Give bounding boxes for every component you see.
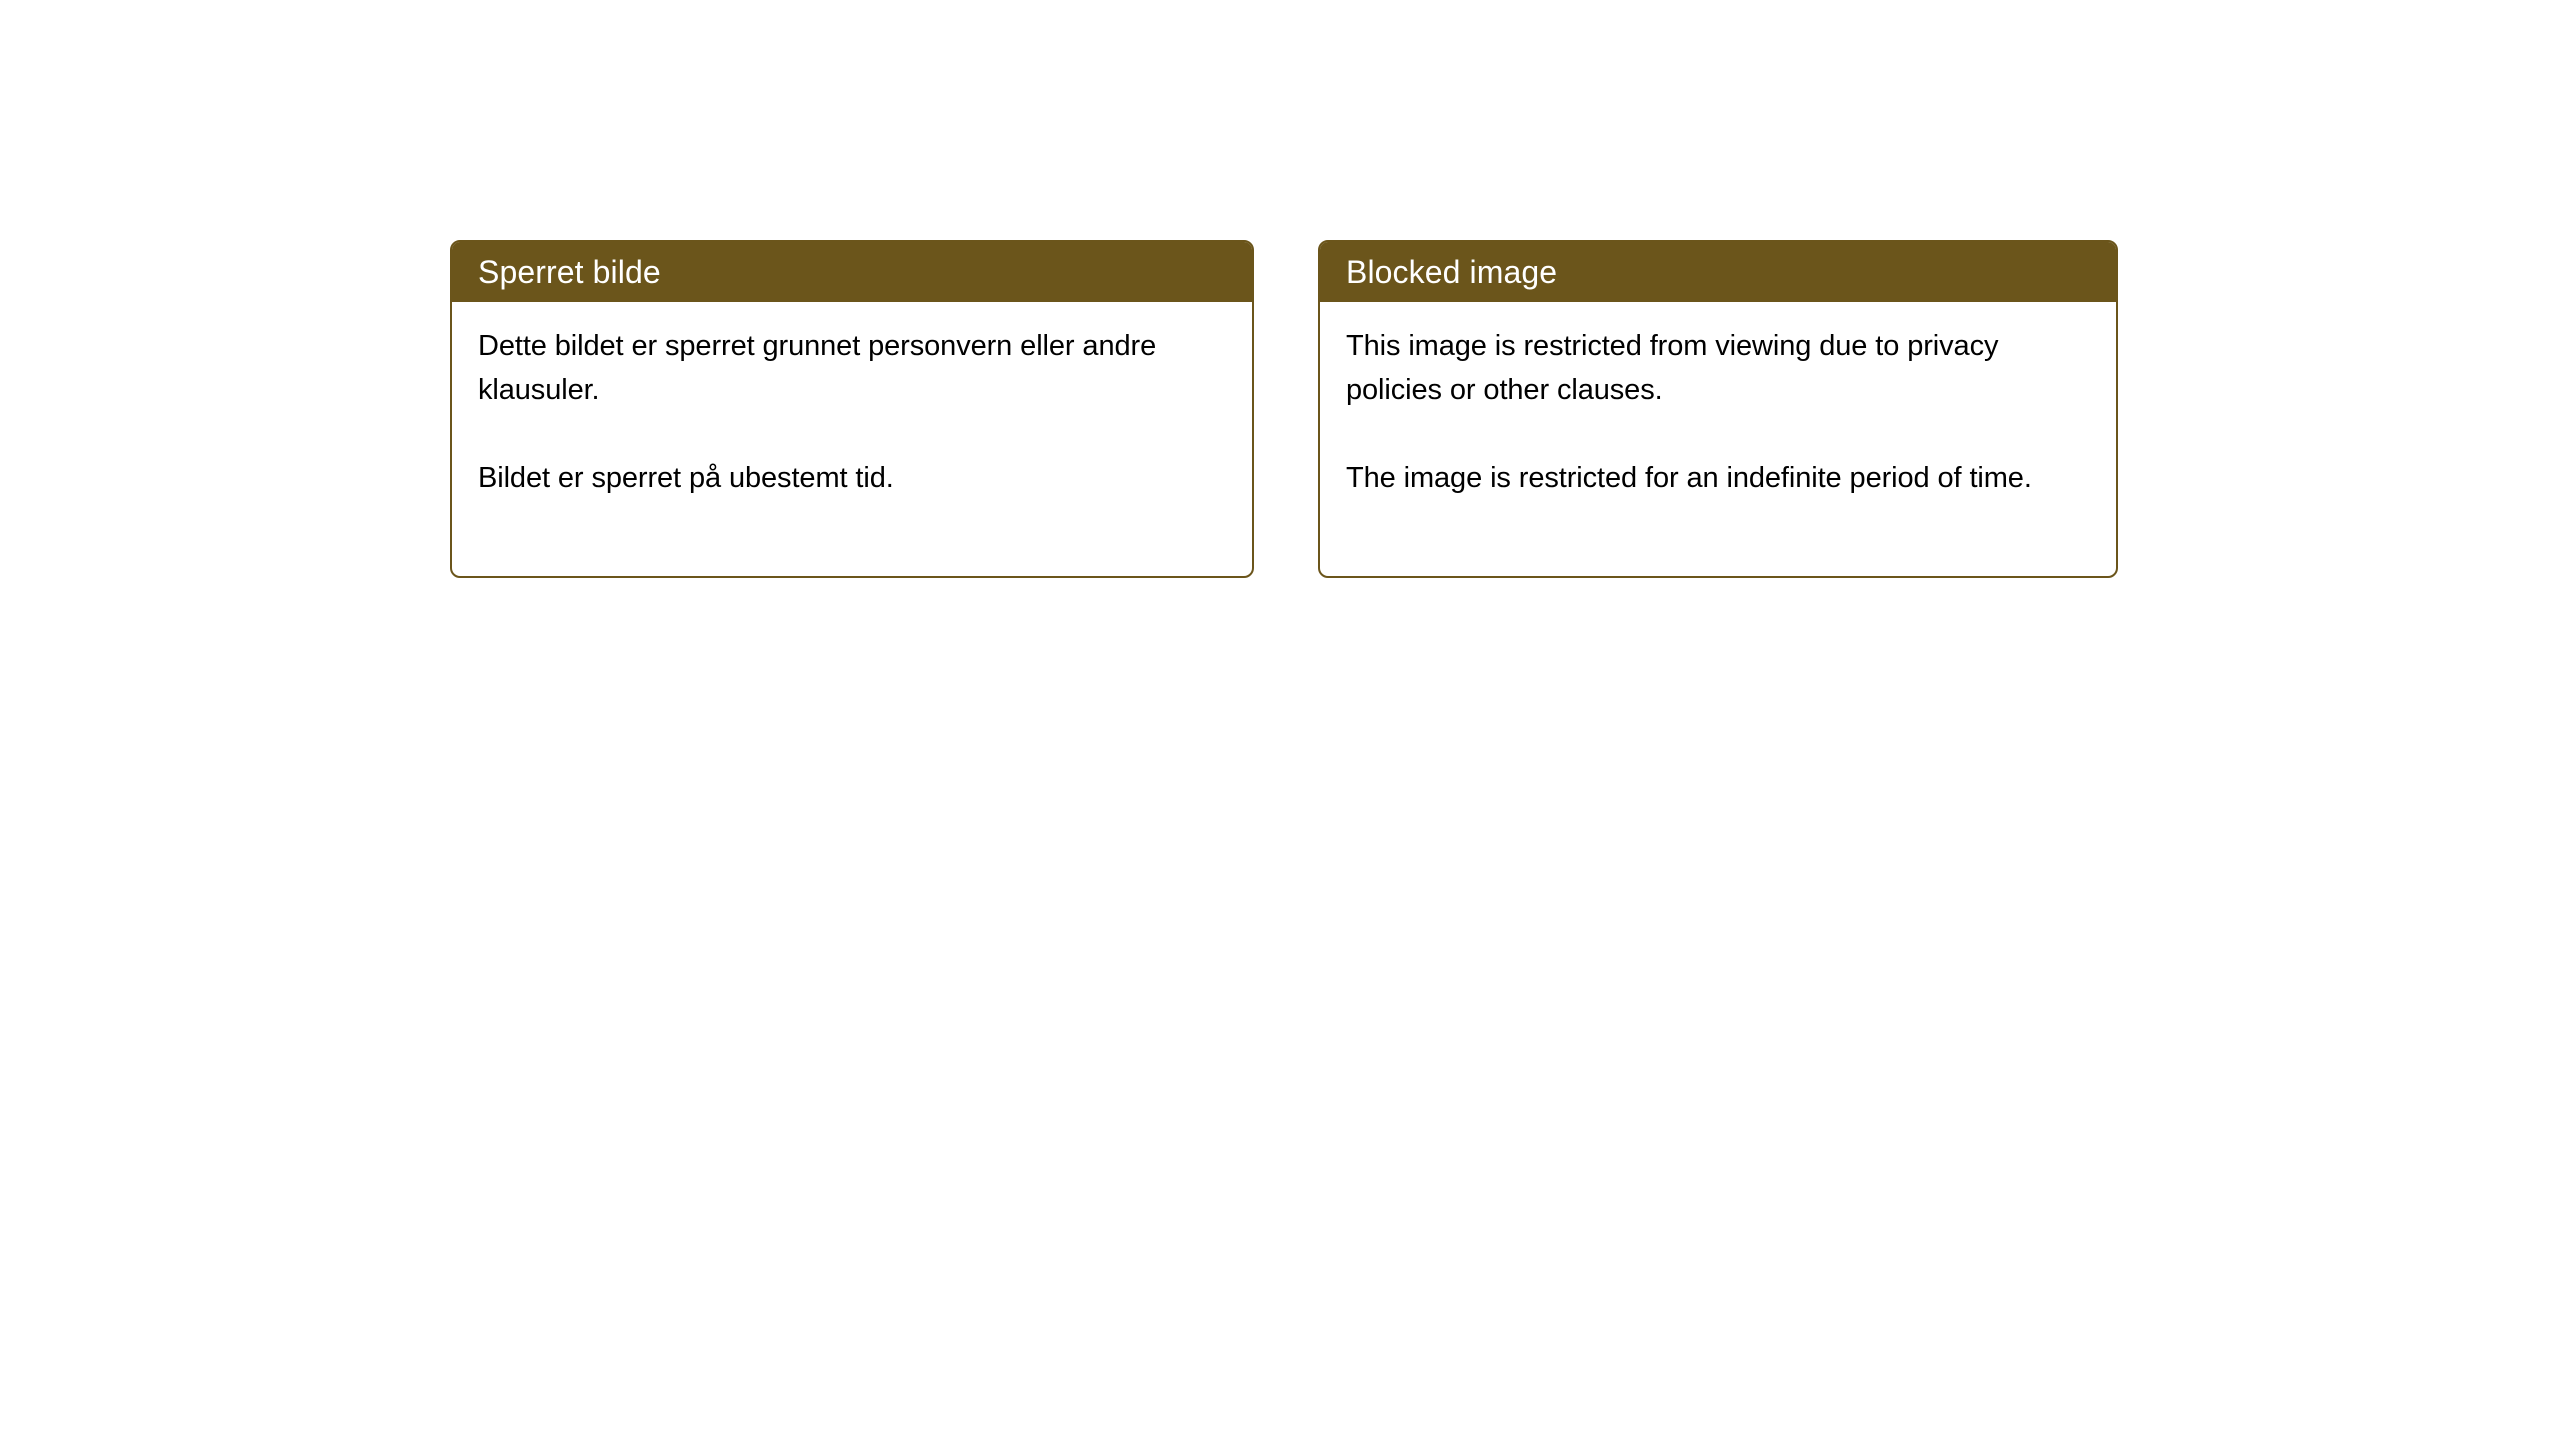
card-paragraph-duration-english: The image is restricted for an indefinit… [1346, 456, 2090, 500]
blocked-image-notice-card-english: Blocked image This image is restricted f… [1318, 240, 2118, 578]
card-paragraph-reason-english: This image is restricted from viewing du… [1346, 324, 2090, 412]
card-title-norwegian: Sperret bilde [478, 255, 661, 289]
card-title-english: Blocked image [1346, 255, 1557, 289]
blocked-image-notice-card-norwegian: Sperret bilde Dette bildet er sperret gr… [450, 240, 1254, 578]
card-header-norwegian: Sperret bilde [452, 242, 1252, 302]
card-header-english: Blocked image [1320, 242, 2116, 302]
page-root: Sperret bilde Dette bildet er sperret gr… [0, 0, 2560, 1440]
paragraph-spacer-english [1346, 412, 2090, 456]
card-paragraph-duration-norwegian: Bildet er sperret på ubestemt tid. [478, 456, 1226, 500]
card-paragraph-reason-norwegian: Dette bildet er sperret grunnet personve… [478, 324, 1226, 412]
card-body-norwegian: Dette bildet er sperret grunnet personve… [452, 302, 1252, 500]
card-body-english: This image is restricted from viewing du… [1320, 302, 2116, 500]
paragraph-spacer-norwegian [478, 412, 1226, 456]
